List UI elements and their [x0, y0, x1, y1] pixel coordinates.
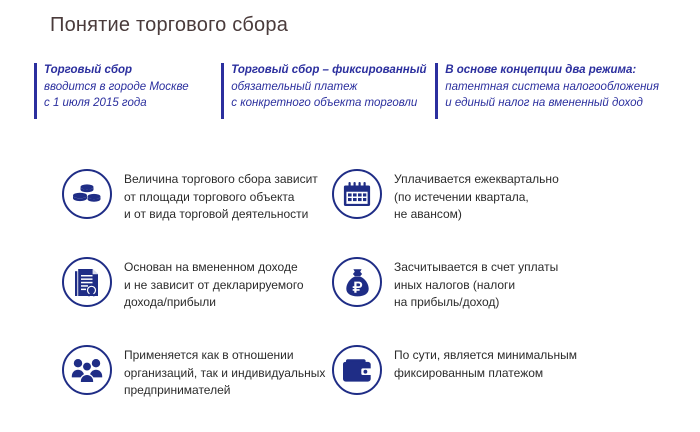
- feature-line: (по истечении квартала,: [394, 189, 559, 207]
- feature-line: Величина торгового сбора зависит: [124, 171, 318, 189]
- callout-fixed-payment: Торговый сбор – фиксированный обязательн…: [221, 62, 435, 112]
- feature-row: Основан на вмененном доходе и не зависит…: [0, 256, 700, 344]
- feature-line: Основан на вмененном доходе: [124, 259, 304, 277]
- feature-grid: Величина торгового сбора зависит от площ…: [0, 168, 700, 432]
- feature-line: и не зависит от декларируемого: [124, 277, 304, 295]
- people-group-icon: [62, 345, 112, 395]
- callout-line: патентная система налогообложения: [445, 79, 674, 96]
- page-title: Понятие торгового сбора: [50, 12, 288, 38]
- feature-line: предпринимателей: [124, 382, 325, 400]
- feature-imputed-income: Основан на вмененном доходе и не зависит…: [0, 256, 316, 312]
- feature-text: По сути, является минимальным фиксирован…: [394, 344, 577, 382]
- feature-line: дохода/прибыли: [124, 294, 304, 312]
- callout-two-regimes: В основе концепции два режима: патентная…: [435, 62, 674, 112]
- callout-line: Торговый сбор – фиксированный: [231, 62, 435, 79]
- feature-text: Величина торгового сбора зависит от площ…: [124, 168, 318, 224]
- feature-applies-to-orgs-and-ip: Применяется как в отношении организаций,…: [0, 344, 316, 400]
- callout-line: вводится в городе Москве: [44, 79, 221, 96]
- callout-line: В основе концепции два режима:: [445, 62, 674, 79]
- feature-line: от площади торгового объекта: [124, 189, 318, 207]
- feature-line: Уплачивается ежеквартально: [394, 171, 559, 189]
- callout-line: и единый налог на вмененный доход: [445, 95, 674, 112]
- feature-line: на прибыль/доход): [394, 294, 558, 312]
- feature-text: Применяется как в отношении организаций,…: [124, 344, 325, 400]
- feature-quarterly-payment: Уплачивается ежеквартально (по истечении…: [316, 168, 646, 224]
- callout-line: Торговый сбор: [44, 62, 221, 79]
- feature-line: иных налогов (налоги: [394, 277, 558, 295]
- callout-line: обязательный платеж: [231, 79, 435, 96]
- feature-row: Величина торгового сбора зависит от площ…: [0, 168, 700, 256]
- slide-root: Понятие торгового сбора Торговый сбор вв…: [0, 0, 700, 422]
- feature-minimum-fixed-payment: По сути, является минимальным фиксирован…: [316, 344, 646, 395]
- coins-icon: [62, 169, 112, 219]
- feature-line: Засчитывается в счет уплаты: [394, 259, 558, 277]
- feature-text: Засчитывается в счет уплаты иных налогов…: [394, 256, 558, 312]
- feature-text: Основан на вмененном доходе и не зависит…: [124, 256, 304, 312]
- callout-line: с 1 июля 2015 года: [44, 95, 221, 112]
- feature-line: Применяется как в отношении: [124, 347, 325, 365]
- document-seal-icon: [62, 257, 112, 307]
- feature-line: и от вида торговой деятельности: [124, 206, 318, 224]
- feature-line: фиксированным платежом: [394, 365, 577, 383]
- feature-amount-depends: Величина торгового сбора зависит от площ…: [0, 168, 316, 224]
- feature-row: Применяется как в отношении организаций,…: [0, 344, 700, 432]
- feature-text: Уплачивается ежеквартально (по истечении…: [394, 168, 559, 224]
- callout-line: с конкретного объекта торговли: [231, 95, 435, 112]
- wallet-icon: [332, 345, 382, 395]
- callout-row: Торговый сбор вводится в городе Москве с…: [34, 62, 674, 112]
- money-bag-ruble-icon: [332, 257, 382, 307]
- feature-line: организаций, так и индивидуальных: [124, 365, 325, 383]
- feature-offset-other-taxes: Засчитывается в счет уплаты иных налогов…: [316, 256, 646, 312]
- feature-line: По сути, является минимальным: [394, 347, 577, 365]
- calendar-icon: [332, 169, 382, 219]
- callout-definition-moscow: Торговый сбор вводится в городе Москве с…: [34, 62, 221, 112]
- feature-line: не авансом): [394, 206, 559, 224]
